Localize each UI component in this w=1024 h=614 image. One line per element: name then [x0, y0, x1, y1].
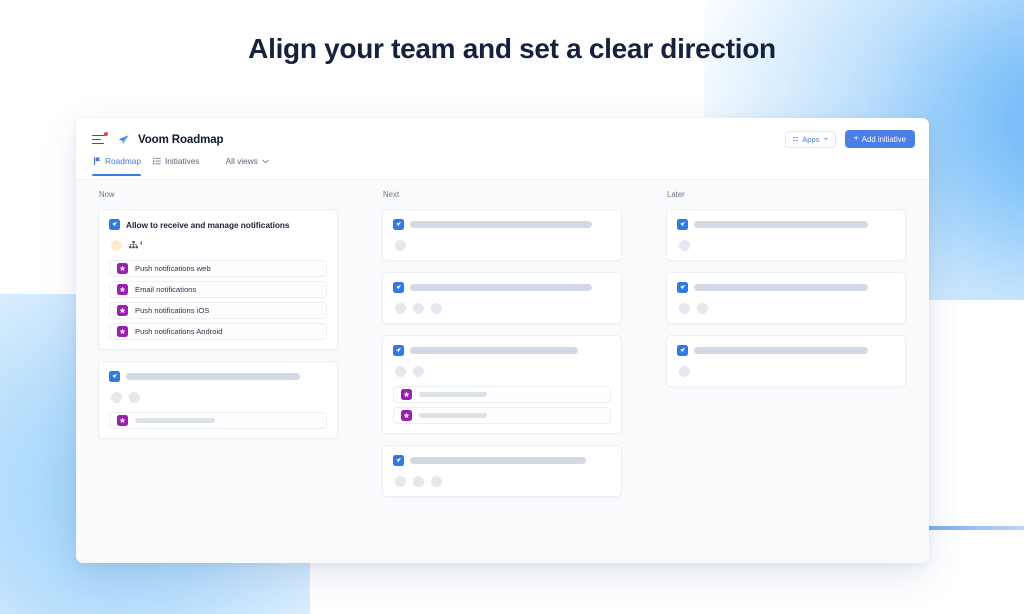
card-title-placeholder — [410, 284, 592, 291]
avatar — [431, 303, 442, 314]
child-row[interactable]: Push notifications iOS — [109, 302, 327, 319]
initiative-icon — [677, 345, 688, 356]
card-title-placeholder — [126, 373, 300, 380]
card-list: Allow to receive and manage notification… — [98, 209, 338, 439]
child-label: Push notifications iOS — [135, 306, 209, 315]
add-initiative-button[interactable]: + Add initiative — [845, 130, 915, 148]
card-meta — [393, 475, 611, 487]
initiative-icon — [393, 455, 404, 466]
hierarchy-count: 4 — [140, 242, 143, 247]
initiative-card[interactable] — [382, 445, 622, 497]
grid-icon — [793, 137, 798, 142]
column-title: Now — [98, 190, 338, 199]
avatar — [111, 392, 122, 403]
apps-button[interactable]: Apps — [785, 131, 835, 148]
card-meta — [393, 239, 611, 251]
initiative-icon — [393, 345, 404, 356]
chevron-down-icon — [262, 159, 269, 164]
initiative-card[interactable] — [666, 209, 906, 261]
card-meta: 4 — [109, 239, 327, 251]
feature-icon — [401, 410, 412, 421]
child-row[interactable]: Push notifications web — [109, 260, 327, 277]
tab-roadmap[interactable]: Roadmap — [92, 152, 151, 176]
initiative-card[interactable] — [382, 209, 622, 261]
tab-initiatives[interactable]: Initiatives — [151, 152, 210, 176]
initiative-icon — [393, 219, 404, 230]
card-meta — [677, 302, 895, 314]
card-title-placeholder — [694, 221, 868, 228]
child-label-placeholder — [419, 392, 487, 398]
card-title-placeholder — [694, 347, 868, 354]
chevron-down-icon — [824, 138, 828, 140]
avatar — [395, 476, 406, 487]
initiative-icon — [393, 282, 404, 293]
header-actions: Apps + Add initiative — [785, 130, 915, 148]
initiative-card[interactable] — [98, 361, 338, 439]
initiative-icon — [109, 219, 120, 230]
initiative-icon — [677, 219, 688, 230]
card-list — [382, 209, 622, 497]
avatar — [679, 240, 690, 251]
tab-all-views-label: All views — [226, 156, 258, 166]
child-label: Email notifications — [135, 285, 196, 294]
initiative-card[interactable] — [382, 272, 622, 324]
card-title-placeholder — [694, 284, 868, 291]
card-header — [393, 345, 611, 356]
app-title: Voom Roadmap — [138, 134, 223, 146]
initiative-icon — [677, 282, 688, 293]
roadmap-board: NowAllow to receive and manage notificat… — [76, 180, 929, 563]
card-header: Allow to receive and manage notification… — [109, 219, 327, 230]
tab-roadmap-label: Roadmap — [105, 156, 141, 166]
child-list — [393, 386, 611, 424]
child-row[interactable] — [393, 407, 611, 424]
child-list — [109, 412, 327, 429]
card-meta — [109, 391, 327, 403]
child-row[interactable] — [109, 412, 327, 429]
avatar — [679, 303, 690, 314]
column-title: Later — [666, 190, 906, 199]
avatar — [697, 303, 708, 314]
avatar — [111, 240, 122, 251]
card-title-placeholder — [410, 347, 578, 354]
card-list — [666, 209, 906, 387]
add-initiative-label: Add initiative — [862, 135, 906, 144]
avatar — [679, 366, 690, 377]
apps-button-label: Apps — [802, 135, 819, 144]
feature-icon — [117, 415, 128, 426]
avatar — [395, 366, 406, 377]
avatar — [395, 303, 406, 314]
feature-icon — [401, 389, 412, 400]
avatar — [413, 476, 424, 487]
avatar — [431, 476, 442, 487]
card-meta — [677, 365, 895, 377]
card-meta — [677, 239, 895, 251]
feature-icon — [117, 326, 128, 337]
rocket-icon — [116, 133, 131, 148]
initiative-icon — [109, 371, 120, 382]
column-title: Next — [382, 190, 622, 199]
board-column: NowAllow to receive and manage notificat… — [76, 190, 360, 563]
notification-dot-icon — [104, 132, 108, 136]
child-label-placeholder — [135, 418, 215, 424]
avatar — [395, 240, 406, 251]
app-window: Voom Roadmap Roadmap — [76, 118, 929, 563]
card-header — [677, 219, 895, 230]
plus-icon: + — [854, 134, 859, 143]
child-row[interactable]: Push notifications Android — [109, 323, 327, 340]
initiative-card[interactable] — [666, 272, 906, 324]
child-list: Push notifications webEmail notification… — [109, 260, 327, 340]
card-meta — [393, 302, 611, 314]
child-label-placeholder — [419, 413, 487, 419]
child-row[interactable]: Email notifications — [109, 281, 327, 298]
roadmap-icon — [94, 157, 101, 165]
card-header — [677, 345, 895, 356]
tab-initiatives-label: Initiatives — [165, 156, 200, 166]
board-column: Next — [360, 190, 644, 563]
page-title: Align your team and set a clear directio… — [0, 33, 1024, 65]
avatar — [129, 392, 140, 403]
card-title: Allow to receive and manage notification… — [126, 220, 289, 230]
card-title-placeholder — [410, 457, 586, 464]
board-column: Later — [644, 190, 928, 563]
avatar — [413, 366, 424, 377]
feature-icon — [117, 284, 128, 295]
initiative-card[interactable] — [382, 335, 622, 434]
card-header — [393, 219, 611, 230]
child-row[interactable] — [393, 386, 611, 403]
card-meta — [393, 365, 611, 377]
hamburger-menu-icon[interactable] — [92, 134, 107, 147]
tab-all-views[interactable]: All views — [224, 152, 279, 176]
avatar — [413, 303, 424, 314]
card-title-placeholder — [410, 221, 592, 228]
initiative-card[interactable]: Allow to receive and manage notification… — [98, 209, 338, 350]
initiative-card[interactable] — [666, 335, 906, 387]
hierarchy-icon: 4 — [129, 241, 143, 249]
child-label: Push notifications Android — [135, 327, 222, 336]
card-header — [109, 371, 327, 382]
nav-tabs: Roadmap Initiatives All view — [76, 152, 929, 176]
child-label: Push notifications web — [135, 264, 211, 273]
app-header: Voom Roadmap Roadmap — [76, 118, 929, 180]
feature-icon — [117, 263, 128, 274]
list-icon — [153, 157, 161, 165]
card-header — [393, 282, 611, 293]
card-header — [393, 455, 611, 466]
feature-icon — [117, 305, 128, 316]
card-header — [677, 282, 895, 293]
